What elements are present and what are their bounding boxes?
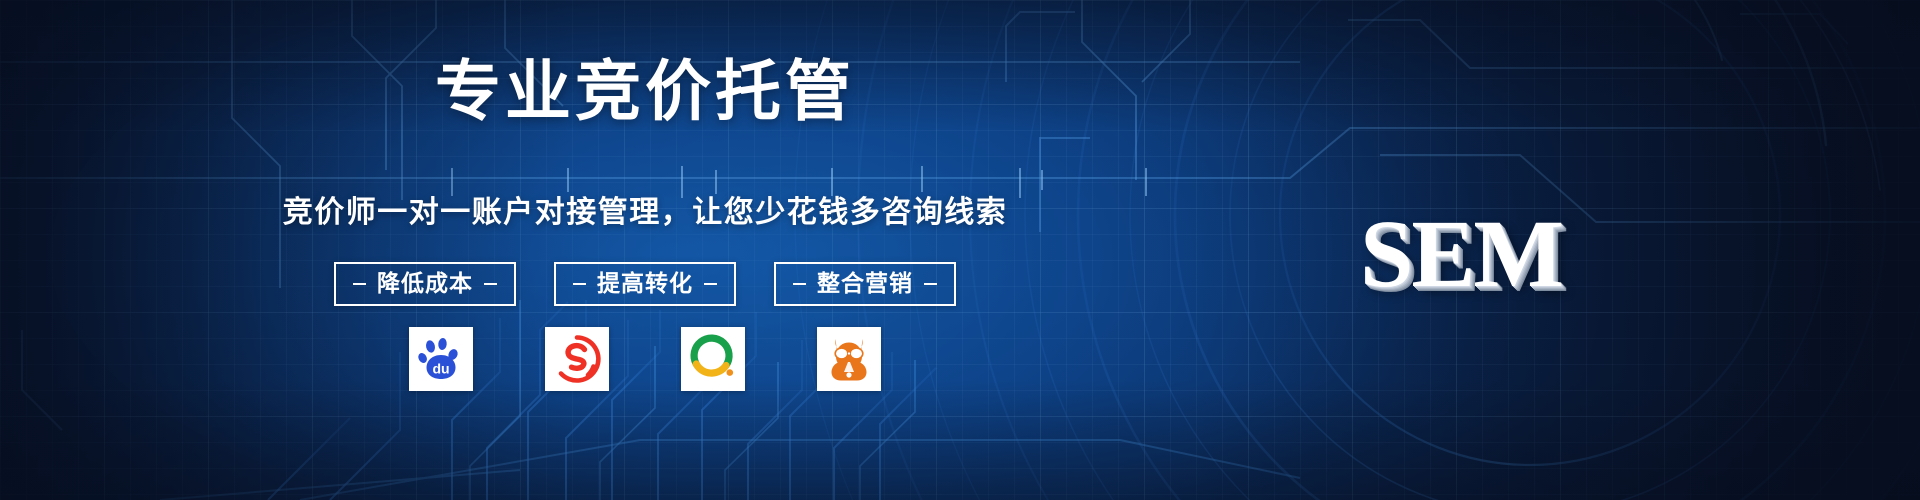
baidu-logo-label: du [432, 361, 449, 377]
so360-logo-icon [688, 334, 738, 384]
sem-brand-text: SEM [1360, 200, 1562, 307]
page-title: 专业竞价托管 [0, 58, 1290, 124]
sogou-logo-icon [552, 334, 602, 384]
sem-promo-banner: 专业竞价托管 竞价师一对一账户对接管理，让您少花钱多咨询线索 降低成本 提高转化… [0, 0, 1920, 500]
feature-tag-integrated-marketing[interactable]: 整合营销 [774, 262, 956, 306]
dash-right-icon [924, 283, 937, 285]
dash-right-icon [484, 283, 497, 285]
sogou-logo-tile[interactable] [545, 327, 609, 391]
feature-tag-higher-conversion[interactable]: 提高转化 [554, 262, 736, 306]
so360-logo-tile[interactable] [681, 327, 745, 391]
shenma-logo-tile[interactable] [817, 327, 881, 391]
partner-logo-row: du [0, 327, 1290, 391]
feature-tag-label: 整合营销 [817, 272, 913, 295]
feature-tag-lower-cost[interactable]: 降低成本 [334, 262, 516, 306]
dash-left-icon [793, 283, 806, 285]
feature-tag-label: 提高转化 [597, 272, 693, 295]
dash-right-icon [704, 283, 717, 285]
dash-left-icon [573, 283, 586, 285]
shenma-logo-icon [824, 334, 874, 384]
baidu-logo-tile[interactable]: du [409, 327, 473, 391]
feature-tag-row: 降低成本 提高转化 整合营销 [0, 262, 1290, 306]
baidu-logo-icon: du [416, 334, 466, 384]
dash-left-icon [353, 283, 366, 285]
feature-tag-label: 降低成本 [377, 272, 473, 295]
banner-subtitle: 竞价师一对一账户对接管理，让您少花钱多咨询线索 [0, 198, 1290, 228]
sem-brand-mark: SEM [1360, 206, 1700, 302]
banner-content: 专业竞价托管 竞价师一对一账户对接管理，让您少花钱多咨询线索 降低成本 提高转化… [0, 0, 1920, 500]
